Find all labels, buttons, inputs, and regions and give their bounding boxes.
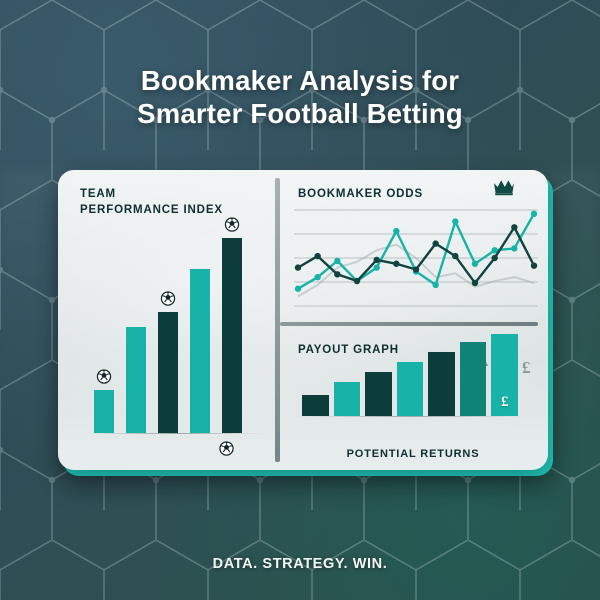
payout-bar-5 [428, 352, 455, 416]
payout-bar-4 [397, 362, 424, 416]
odds-data-point [452, 253, 458, 259]
soccer-ball-icon [161, 291, 176, 306]
team-bar-4 [190, 269, 210, 433]
team-bar-5 [222, 238, 242, 433]
crown-icon [492, 178, 516, 196]
page-title: Bookmaker Analysis for Smarter Football … [0, 64, 600, 130]
infographic-card: TEAM PERFORMANCE INDEX BOOKMAKER ODDS PA… [58, 170, 548, 470]
tagline: DATA. STRATEGY. WIN. [0, 556, 600, 572]
soccer-ball-icon [97, 369, 112, 384]
odds-data-point [531, 211, 537, 217]
title-line-2: Smarter Football Betting [0, 97, 600, 130]
title-line-1: Bookmaker Analysis for [141, 65, 459, 96]
team-performance-bar-chart [94, 218, 254, 433]
odds-data-point [295, 286, 301, 292]
payout-bar-3 [365, 372, 392, 416]
odds-data-point [472, 261, 478, 267]
team-performance-heading-line2: PERFORMANCE INDEX [80, 202, 223, 218]
soccer-ball-icon [225, 217, 240, 232]
pound-symbol-top: £ [522, 358, 531, 378]
odds-data-point [531, 262, 537, 268]
odds-data-point [334, 258, 340, 264]
soccer-ball-icon [219, 441, 234, 456]
payout-bar-chart: £ [302, 326, 518, 416]
team-bar-3 [158, 312, 178, 433]
odds-data-point [354, 278, 360, 284]
team-performance-heading-line1: TEAM [80, 186, 223, 202]
bar-ball-marker [97, 369, 112, 389]
odds-data-point [334, 271, 340, 277]
odds-data-point [491, 255, 497, 261]
odds-data-point [432, 282, 438, 288]
odds-data-point [373, 257, 379, 263]
payout-bar-7: £ [491, 334, 518, 416]
pound-symbol-in-bar: £ [501, 394, 509, 411]
odds-series-2 [295, 224, 537, 286]
odds-data-point [511, 245, 517, 251]
team-performance-heading: TEAM PERFORMANCE INDEX [80, 186, 223, 218]
odds-data-point [472, 280, 478, 286]
odds-data-point [413, 266, 419, 272]
odds-data-point [314, 253, 320, 259]
payout-bar-6 [460, 342, 487, 416]
payout-bar-1 [302, 395, 329, 416]
vertical-divider [275, 178, 280, 462]
odds-data-point [432, 240, 438, 246]
odds-data-point [314, 274, 320, 280]
odds-data-point [452, 218, 458, 224]
odds-data-point [373, 264, 379, 270]
bookmaker-odds-line-chart [294, 204, 538, 314]
bar-ball-marker [161, 291, 176, 311]
odds-data-point [295, 264, 301, 270]
odds-data-point [393, 228, 399, 234]
team-bar-1 [94, 390, 114, 433]
payout-bar-2 [334, 382, 361, 416]
odds-data-point [511, 224, 517, 230]
bar-ball-marker [225, 217, 240, 237]
potential-returns-label: POTENTIAL RETURNS [298, 448, 528, 460]
bookmaker-odds-heading: BOOKMAKER ODDS [298, 186, 423, 202]
team-bar-2 [126, 327, 146, 433]
odds-data-point [393, 261, 399, 267]
